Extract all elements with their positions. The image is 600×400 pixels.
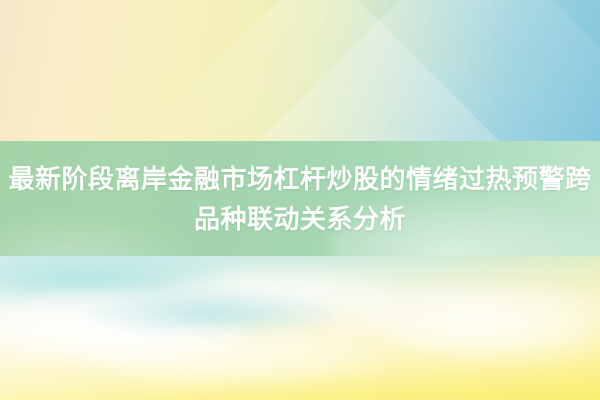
cloud-shape-4: [60, 328, 400, 388]
top-gradient-background: [0, 0, 600, 142]
article-banner-image: 最新阶段离岸金融市场杠杆炒股的情绪过热预警跨品种联动关系分析: [0, 0, 600, 400]
banner-title: 最新阶段离岸金融市场杠杆炒股的情绪过热预警跨品种联动关系分析: [6, 159, 594, 239]
sky-gradient-background: [0, 256, 600, 400]
title-container: 最新阶段离岸金融市场杠杆炒股的情绪过热预警跨品种联动关系分析: [0, 141, 600, 256]
